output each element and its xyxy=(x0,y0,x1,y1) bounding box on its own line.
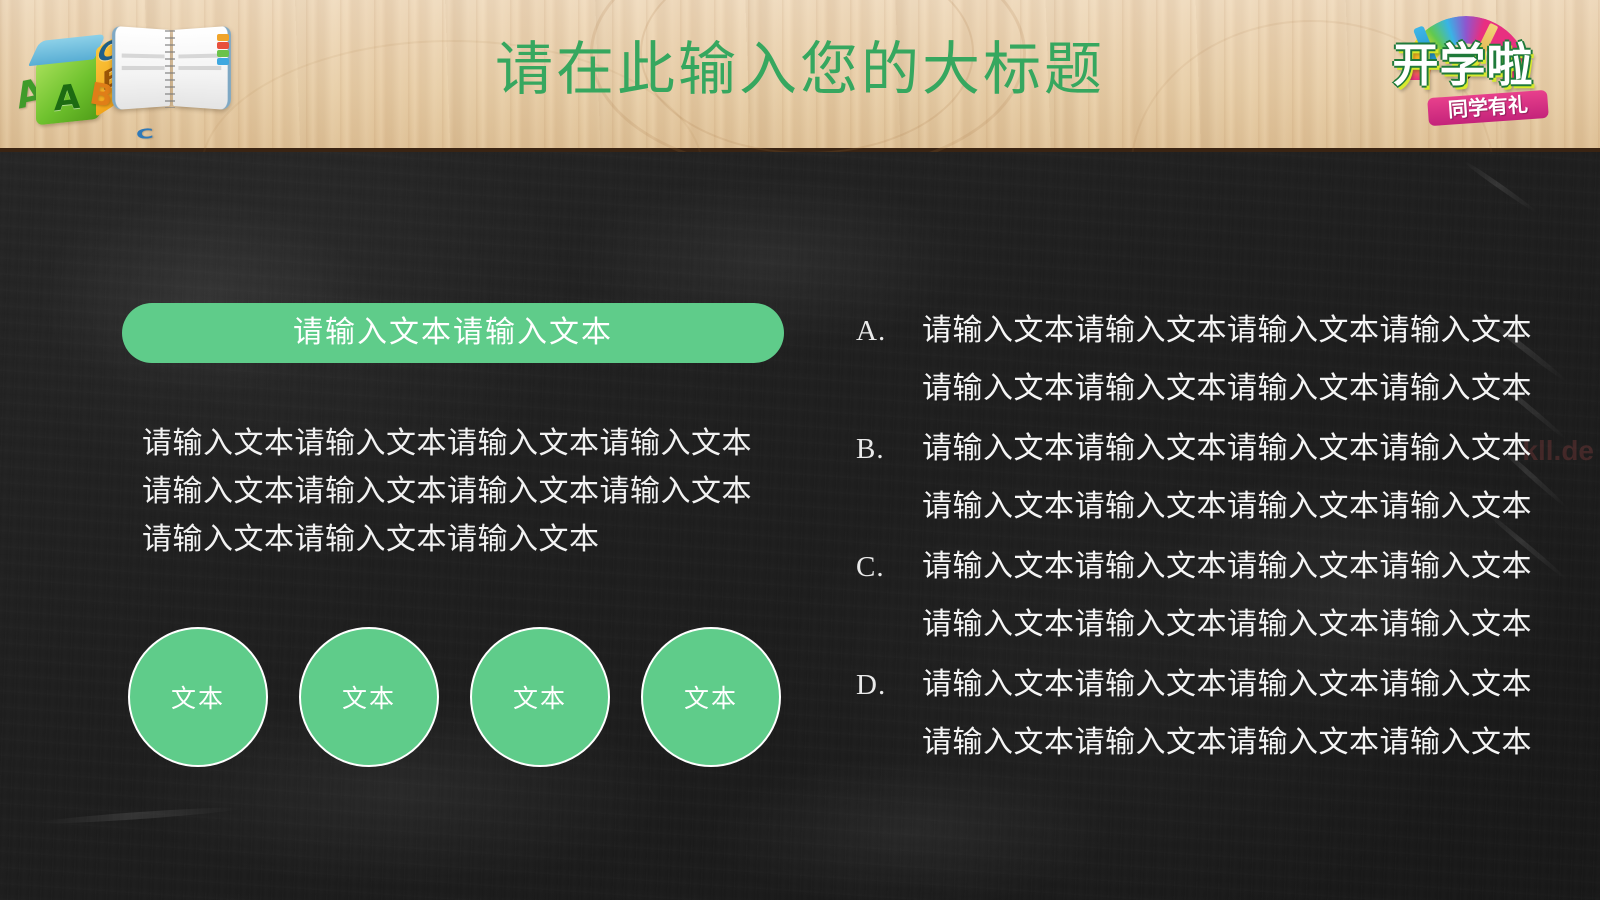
bubble-label: 文本 xyxy=(342,679,396,715)
answer-text: 请输入文本请输入文本请输入文本请输入文本请输入文本请输入文本请输入文本请输入文本 xyxy=(922,656,1556,772)
answer-marker: A. xyxy=(856,302,922,360)
bubble-label: 文本 xyxy=(171,679,225,715)
bubble-row: 文本 文本 文本 文本 xyxy=(128,627,788,769)
answer-option-c[interactable]: C. 请输入文本请输入文本请输入文本请输入文本请输入文本请输入文本请输入文本请输… xyxy=(856,538,1556,654)
chalk-stroke xyxy=(1462,159,1539,215)
chalk-stroke xyxy=(40,805,240,826)
book-bookmark-tabs xyxy=(217,34,229,64)
headline-pill-button[interactable]: 请输入文本请输入文本 xyxy=(122,303,784,363)
bubble-item-3[interactable]: 文本 xyxy=(470,627,610,767)
book-left-page xyxy=(112,26,170,110)
letter-c-icon: C xyxy=(135,126,154,143)
answer-text: 请输入文本请输入文本请输入文本请输入文本请输入文本请输入文本请输入文本请输入文本 xyxy=(922,302,1556,418)
body-paragraph: 请输入文本请输入文本请输入文本请输入文本请输入文本请输入文本请输入文本请输入文本… xyxy=(142,420,752,564)
block-letter-front: A xyxy=(54,77,80,120)
answer-option-d[interactable]: D. 请输入文本请输入文本请输入文本请输入文本请输入文本请输入文本请输入文本请输… xyxy=(856,656,1556,772)
open-book-icon xyxy=(113,28,229,112)
logo-sub-text: 同学有礼 xyxy=(1427,90,1549,126)
answer-option-b[interactable]: B. 请输入文本请输入文本请输入文本请输入文本请输入文本请输入文本请输入文本请输… xyxy=(856,420,1556,536)
logo-main-text: 开学啦 xyxy=(1374,38,1552,92)
page-title: 请在此输入您的大标题 xyxy=(300,28,1300,112)
answer-marker: B. xyxy=(856,420,922,478)
answer-options-list: A. 请输入文本请输入文本请输入文本请输入文本请输入文本请输入文本请输入文本请输… xyxy=(856,302,1556,774)
answer-option-a[interactable]: A. 请输入文本请输入文本请输入文本请输入文本请输入文本请输入文本请输入文本请输… xyxy=(856,302,1556,418)
answer-marker: C. xyxy=(856,538,922,596)
bubble-item-4[interactable]: 文本 xyxy=(641,627,781,767)
book-spiral-binding xyxy=(165,30,175,108)
school-supplies-decoration: A A C B B C xyxy=(8,10,258,150)
answer-text: 请输入文本请输入文本请输入文本请输入文本请输入文本请输入文本请输入文本请输入文本 xyxy=(922,538,1556,654)
answer-marker: D. xyxy=(856,656,922,714)
chalk-smudge xyxy=(700,752,1120,900)
answer-text: 请输入文本请输入文本请输入文本请输入文本请输入文本请输入文本请输入文本请输入文本 xyxy=(922,420,1556,536)
bubble-label: 文本 xyxy=(684,679,738,715)
bubble-item-2[interactable]: 文本 xyxy=(299,627,439,767)
presentation-slide: A A C B B C xyxy=(0,0,1600,900)
bubble-item-1[interactable]: 文本 xyxy=(128,627,268,767)
headline-pill-label: 请输入文本请输入文本 xyxy=(293,316,613,350)
bubble-label: 文本 xyxy=(513,679,567,715)
chalk-smudge xyxy=(30,192,370,402)
back-to-school-logo: 开学啦 同学有礼 xyxy=(1368,14,1558,136)
